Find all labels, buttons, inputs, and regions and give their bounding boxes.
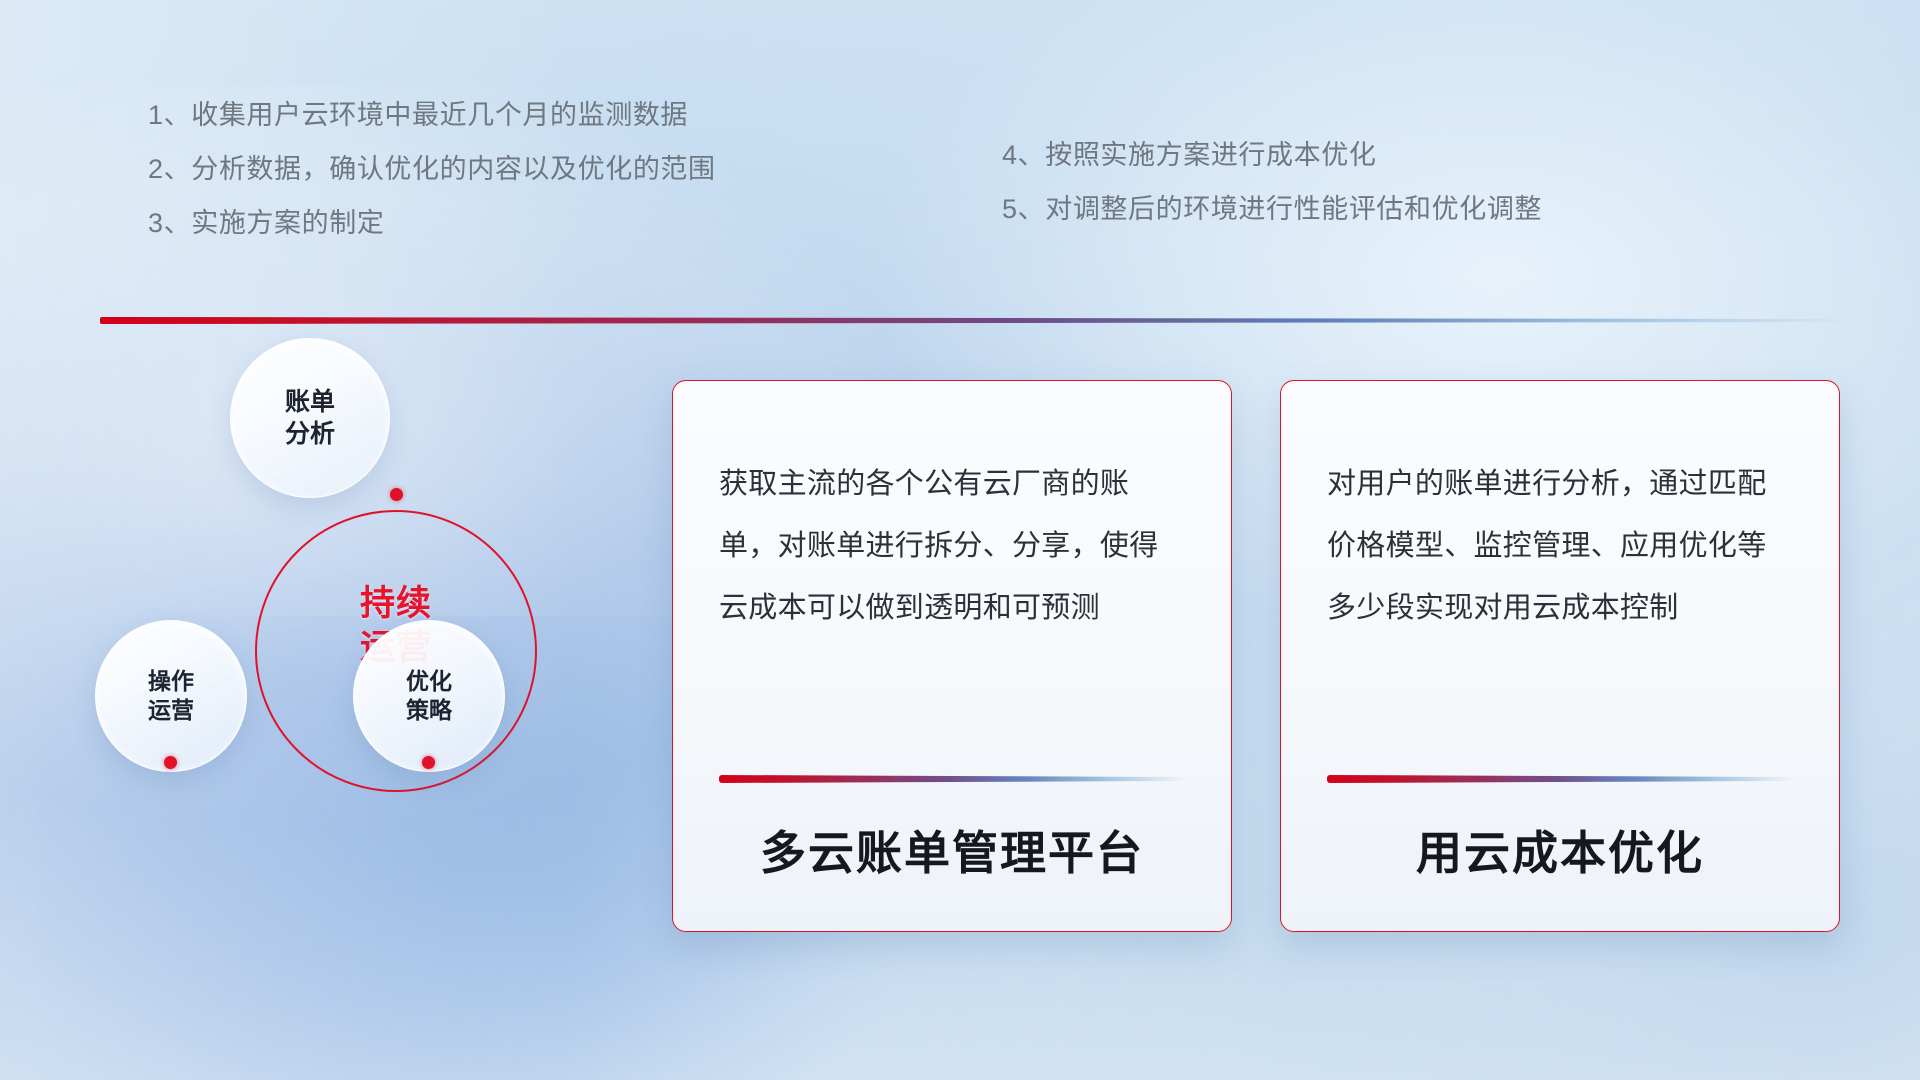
diagram-bubble-bill-analysis-line2: 分析 [285, 418, 335, 450]
diagram-bubble-bill-analysis[interactable]: 账单 分析 [230, 338, 390, 498]
feature-card-cost-optimization-title: 用云成本优化 [1281, 817, 1839, 883]
process-step-item-4: 4、按照实施方案进行成本优化 [1002, 128, 1542, 182]
feature-card-cost-optimization-underline [1327, 775, 1793, 783]
feature-card-multicloud-billing-title: 多云账单管理平台 [673, 817, 1231, 883]
diagram-bubble-optimization-strategy-line1: 优化 [406, 667, 452, 696]
diagram-bubble-operations[interactable]: 操作 运营 [95, 620, 247, 772]
diagram-node-dot-top [390, 488, 403, 501]
diagram-bubble-operations-line1: 操作 [148, 667, 194, 696]
diagram-node-dot-bottom-right [422, 756, 435, 769]
feature-card-multicloud-billing-body: 获取主流的各个公有云厂商的账单，对账单进行拆分、分享，使得云成本可以做到透明和可… [719, 453, 1185, 639]
process-step-item-1: 1、收集用户云环境中最近几个月的监测数据 [148, 88, 716, 142]
continuous-operation-diagram: 持续 运营 账单 分析 操作 运营 优化 策略 [95, 350, 635, 950]
diagram-node-dot-bottom-left [164, 756, 177, 769]
process-step-item-2: 2、分析数据，确认优化的内容以及优化的范围 [148, 142, 716, 196]
diagram-center-label-line1: 持续 [255, 582, 537, 626]
diagram-bubble-optimization-strategy-line2: 策略 [406, 696, 452, 725]
diagram-bubble-bill-analysis-line1: 账单 [285, 386, 335, 418]
feature-card-multicloud-billing-underline [719, 775, 1185, 783]
diagram-bubble-operations-line2: 运营 [148, 696, 194, 725]
diagram-bubble-optimization-strategy[interactable]: 优化 策略 [353, 620, 505, 772]
process-step-item-3: 3、实施方案的制定 [148, 196, 716, 250]
feature-card-group: 获取主流的各个公有云厂商的账单，对账单进行拆分、分享，使得云成本可以做到透明和可… [672, 380, 1892, 940]
process-step-item-5: 5、对调整后的环境进行性能评估和优化调整 [1002, 182, 1542, 236]
process-step-list: 1、收集用户云环境中最近几个月的监测数据 2、分析数据，确认优化的内容以及优化的… [0, 88, 1920, 248]
feature-card-multicloud-billing[interactable]: 获取主流的各个公有云厂商的账单，对账单进行拆分、分享，使得云成本可以做到透明和可… [672, 380, 1232, 932]
process-step-list-right-column: 4、按照实施方案进行成本优化 5、对调整后的环境进行性能评估和优化调整 [1002, 128, 1542, 236]
feature-card-cost-optimization[interactable]: 对用户的账单进行分析，通过匹配价格模型、监控管理、应用优化等多少段实现对用云成本… [1280, 380, 1840, 932]
process-step-list-left-column: 1、收集用户云环境中最近几个月的监测数据 2、分析数据，确认优化的内容以及优化的… [148, 88, 716, 250]
feature-card-cost-optimization-body: 对用户的账单进行分析，通过匹配价格模型、监控管理、应用优化等多少段实现对用云成本… [1327, 453, 1793, 639]
